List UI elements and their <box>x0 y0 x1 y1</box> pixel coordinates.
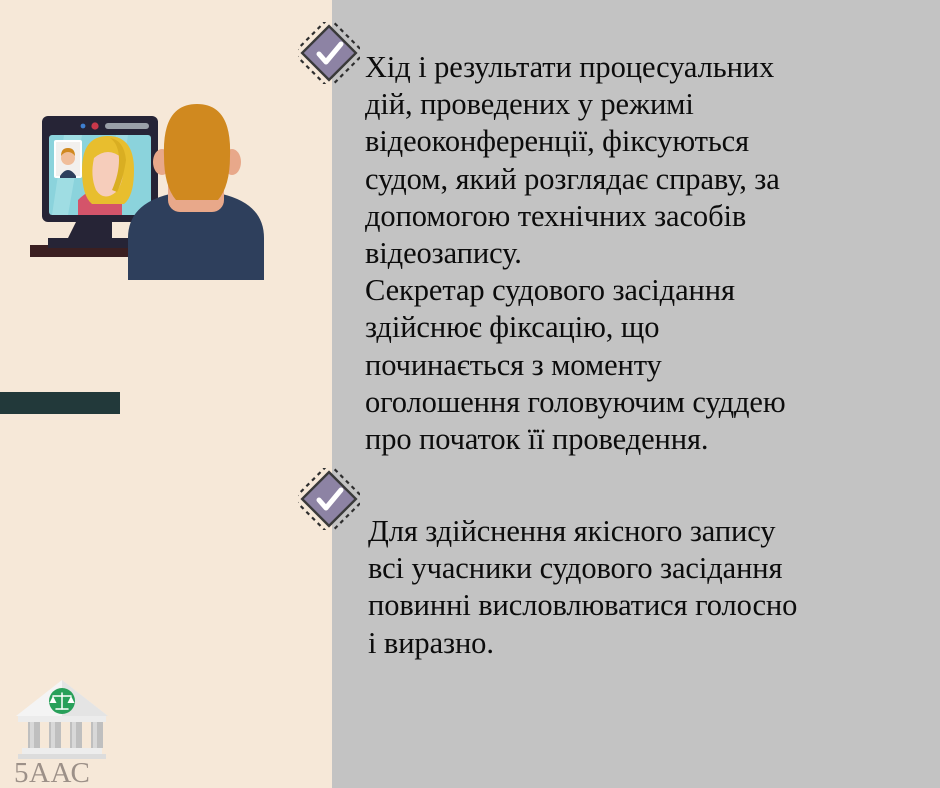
accent-bar <box>0 392 120 414</box>
monitor-screen <box>49 135 151 220</box>
check-diamond-icon <box>298 22 360 84</box>
logo-caption: 5ААС <box>14 757 124 788</box>
logo-architrave <box>18 716 106 722</box>
titlebar-pill <box>105 123 149 129</box>
paragraph-secondary: Для здійснення якісного запису всі учасн… <box>368 513 928 662</box>
check-diamond-icon <box>298 468 360 530</box>
titlebar-red-dot <box>91 122 98 129</box>
paragraph-primary: Хід і результати процесуальних дій, пров… <box>365 49 925 458</box>
presentation-slide: Хід і результати процесуальних дій, пров… <box>0 0 940 788</box>
viewer-hair <box>164 104 230 200</box>
titlebar-blue-dot <box>81 124 86 129</box>
monitor-stand <box>48 218 134 248</box>
person-at-videoconference-illustration <box>20 50 300 280</box>
logo-base <box>22 748 102 754</box>
